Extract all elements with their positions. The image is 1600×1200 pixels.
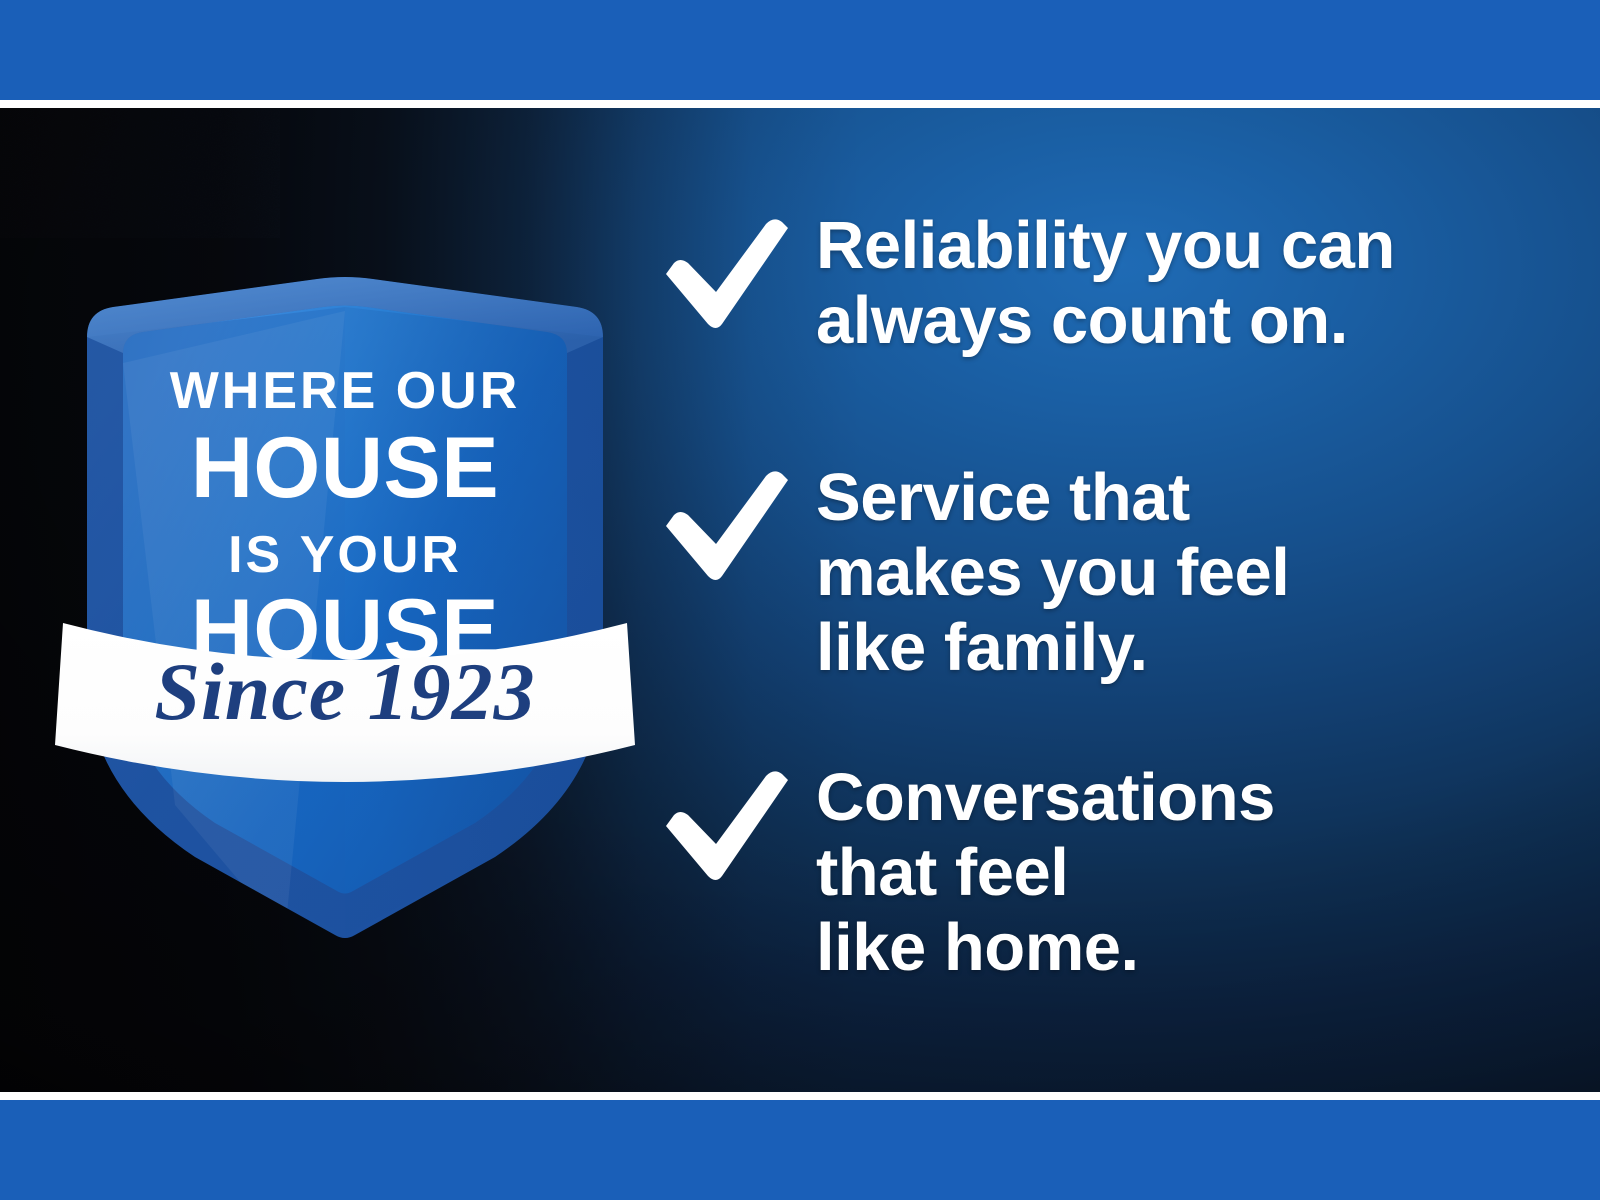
top-brand-bar <box>0 0 1600 100</box>
check-mark-icon <box>660 768 790 888</box>
since-ribbon: Since 1923 <box>55 623 635 782</box>
shield-line-2: HOUSE <box>191 420 499 516</box>
benefit-text-2: Service that makes you feel like family. <box>816 460 1289 685</box>
benefit-item-3: Conversations that feel like home. <box>660 760 1275 985</box>
benefits-list: Reliability you can always count on. Ser… <box>660 160 1560 1040</box>
ribbon-label: Since 1923 <box>154 646 535 737</box>
shield-badge: WHERE OUR HOUSE IS YOUR HOUSE Since 1923 <box>55 245 635 935</box>
benefit-text-1: Reliability you can always count on. <box>816 208 1395 358</box>
benefit-item-1: Reliability you can always count on. <box>660 208 1395 358</box>
bottom-brand-bar <box>0 1100 1600 1200</box>
shield-line-1: WHERE OUR <box>170 362 521 420</box>
benefit-item-2: Service that makes you feel like family. <box>660 460 1289 685</box>
check-mark-icon <box>660 216 790 336</box>
check-mark-icon <box>660 468 790 588</box>
shield-line-3: IS YOUR <box>228 526 462 584</box>
promotional-graphic: WHERE OUR HOUSE IS YOUR HOUSE Since 1923… <box>0 0 1600 1200</box>
benefit-text-3: Conversations that feel like home. <box>816 760 1275 985</box>
grain-texture <box>0 108 280 238</box>
